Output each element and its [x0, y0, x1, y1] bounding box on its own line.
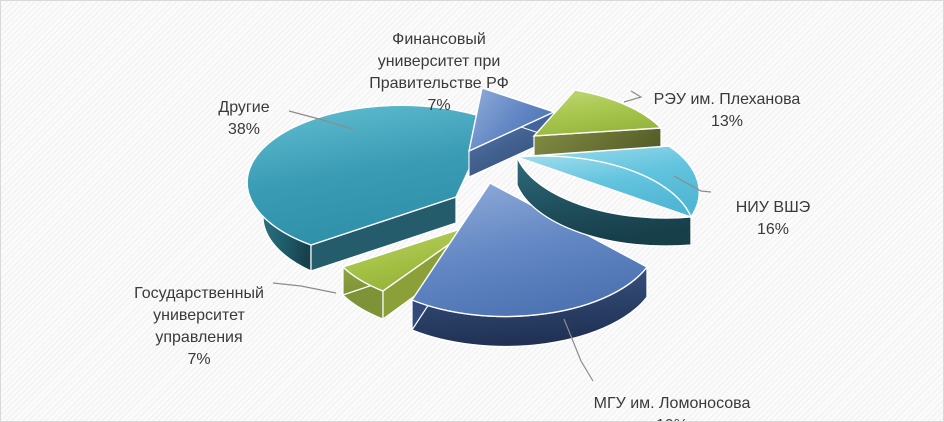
data-label-guu: Государственный университет управления 7…: [109, 261, 289, 393]
data-label-fin-univ-percent: 7%: [339, 95, 539, 117]
data-label-fin-univ: Финансовый университет при Правительстве…: [339, 7, 539, 139]
data-label-msu-text: МГУ им. Ломоносова: [594, 395, 751, 412]
data-label-guu-percent: 7%: [109, 349, 289, 371]
data-label-fin-univ-text: Финансовый университет при Правительстве…: [369, 31, 509, 92]
data-label-other-percent: 38%: [179, 119, 309, 141]
data-label-rea-percent: 13%: [627, 111, 827, 133]
data-label-other-text: Другие: [218, 99, 269, 116]
data-label-hse-percent: 16%: [713, 219, 833, 241]
data-label-msu: МГУ им. Ломоносова 19%: [567, 371, 777, 422]
data-label-msu-percent: 19%: [567, 415, 777, 422]
data-label-hse: НИУ ВШЭ 16%: [713, 175, 833, 263]
data-label-guu-text: Государственный университет управления: [134, 285, 264, 346]
data-label-other: Другие 38%: [179, 75, 309, 163]
data-label-rea: РЭУ им. Плеханова 13%: [627, 67, 827, 155]
chart-canvas: Финансовый университет при Правительстве…: [0, 0, 944, 422]
data-label-rea-text: РЭУ им. Плеханова: [654, 91, 801, 108]
data-label-hse-text: НИУ ВШЭ: [736, 199, 811, 216]
